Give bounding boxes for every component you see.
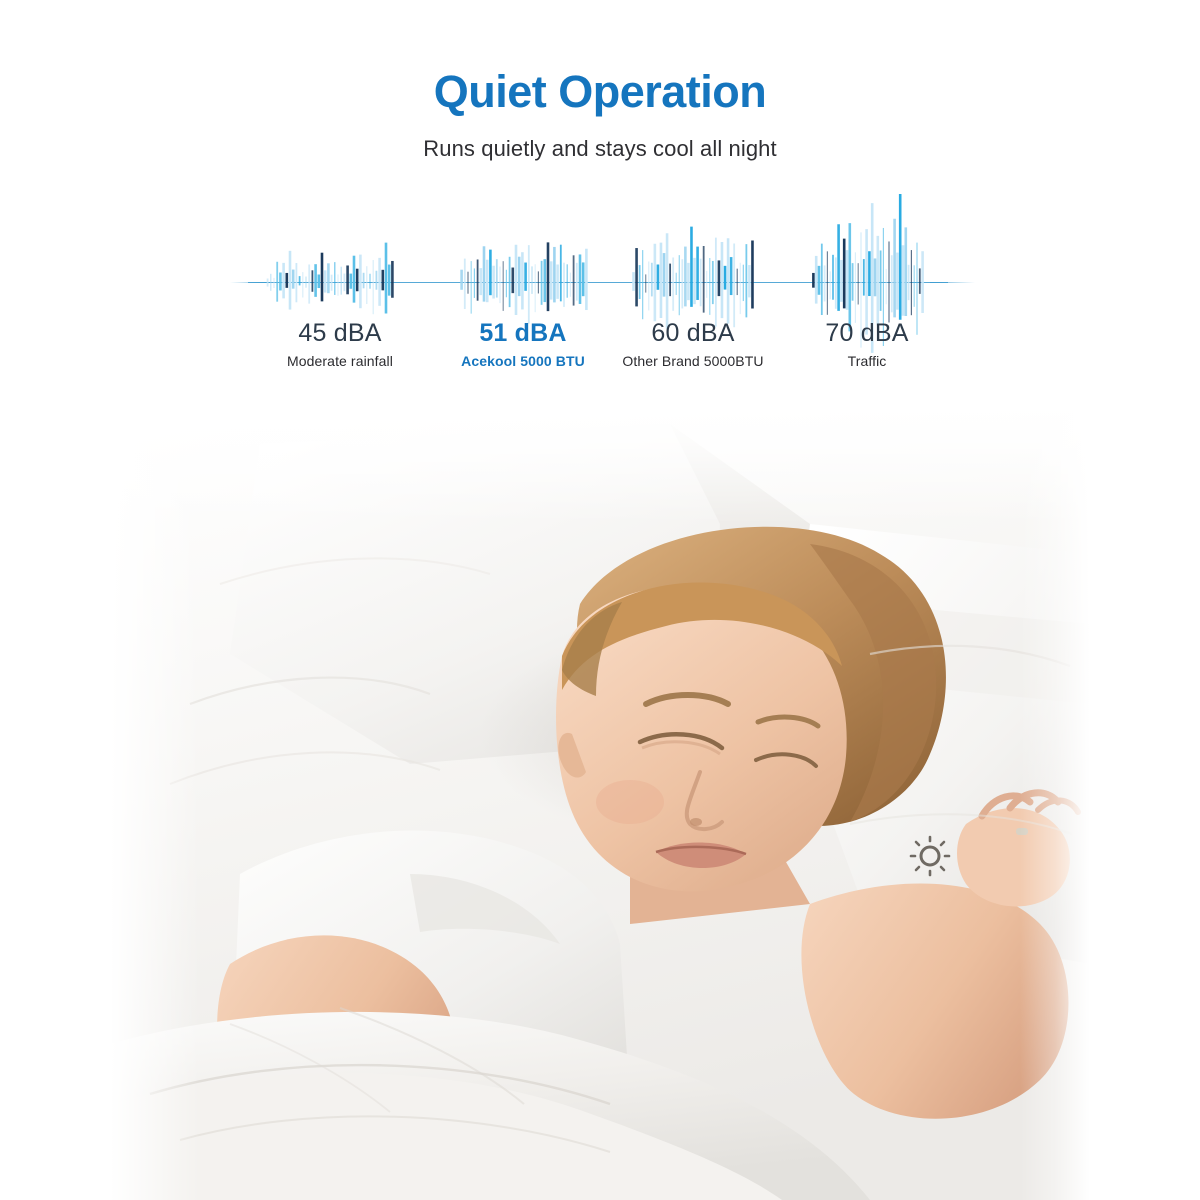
- db-value-0: 45 dBA: [245, 318, 435, 348]
- db-value-1: 51 dBA: [428, 318, 618, 348]
- db-source-3: Traffic: [772, 351, 962, 371]
- db-value-3: 70 dBA: [772, 318, 962, 348]
- sleeping-woman-photo: [110, 404, 1090, 1200]
- photo-illustration: [110, 404, 1090, 1200]
- db-source-2: Other Brand 5000BTU: [598, 351, 788, 371]
- label-column-traffic: 70 dBA Traffic: [772, 318, 962, 371]
- axis-fade-right: [930, 282, 975, 283]
- db-value-2: 60 dBA: [598, 318, 788, 348]
- waveform-labels: 45 dBA Moderate rainfall 51 dBA Acekool …: [0, 318, 1200, 380]
- label-column-moderate-rainfall: 45 dBA Moderate rainfall: [245, 318, 435, 371]
- sound-level-waveform-chart: [0, 196, 1200, 318]
- db-source-1: Acekool 5000 BTU: [428, 351, 618, 371]
- label-column-other-brand-5000btu: 60 dBA Other Brand 5000BTU: [598, 318, 788, 371]
- page-title: Quiet Operation: [0, 0, 1200, 118]
- infographic-root: Quiet Operation Runs quietly and stays c…: [0, 0, 1200, 1200]
- label-column-acekool-5000-btu: 51 dBA Acekool 5000 BTU: [428, 318, 618, 371]
- page-subtitle: Runs quietly and stays cool all night: [0, 118, 1200, 163]
- header: Quiet Operation Runs quietly and stays c…: [0, 0, 1200, 163]
- db-source-0: Moderate rainfall: [245, 351, 435, 371]
